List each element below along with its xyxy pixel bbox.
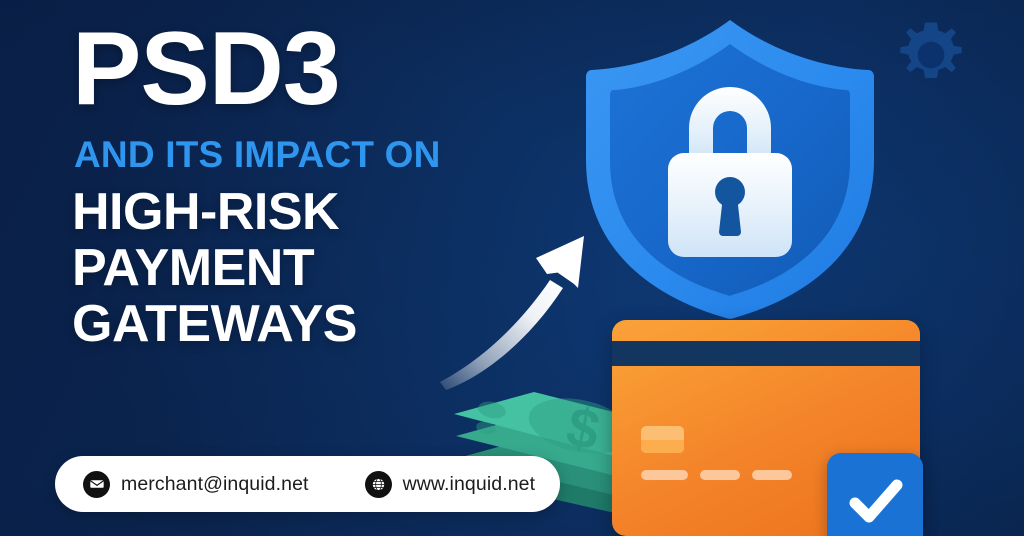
headline-main-line-3: GATEWAYS	[72, 297, 502, 353]
contact-email[interactable]: merchant@inquid.net	[83, 471, 309, 498]
verified-check-badge	[827, 453, 923, 536]
envelope-icon	[83, 471, 110, 498]
headline-main: HIGH-RISK PAYMENT GATEWAYS	[72, 185, 502, 352]
security-shield-icon	[580, 14, 880, 324]
card-number-bar	[700, 470, 740, 480]
page-title: PSD3	[72, 20, 502, 120]
gear-icon	[894, 18, 968, 92]
headline-subtitle: AND ITS IMPACT ON	[74, 134, 502, 175]
contact-website-text: www.inquid.net	[403, 473, 536, 496]
globe-icon	[365, 471, 392, 498]
contact-website[interactable]: www.inquid.net	[365, 471, 536, 498]
contact-email-text: merchant@inquid.net	[121, 473, 309, 496]
contact-bar: merchant@inquid.net www.inquid.net	[55, 456, 560, 512]
headline-main-line-1: HIGH-RISK	[72, 185, 502, 241]
card-number-bar	[752, 470, 792, 480]
headline-main-line-2: PAYMENT	[72, 241, 502, 297]
card-number-bar	[641, 470, 688, 480]
card-magnetic-stripe	[612, 341, 920, 366]
card-chip	[641, 426, 684, 453]
psd3-promo-banner: $ PSD3 AND ITS IMPACT ON HIGH-RISK PAYME…	[0, 0, 1024, 536]
headline-block: PSD3 AND ITS IMPACT ON HIGH-RISK PAYMENT…	[72, 20, 502, 352]
